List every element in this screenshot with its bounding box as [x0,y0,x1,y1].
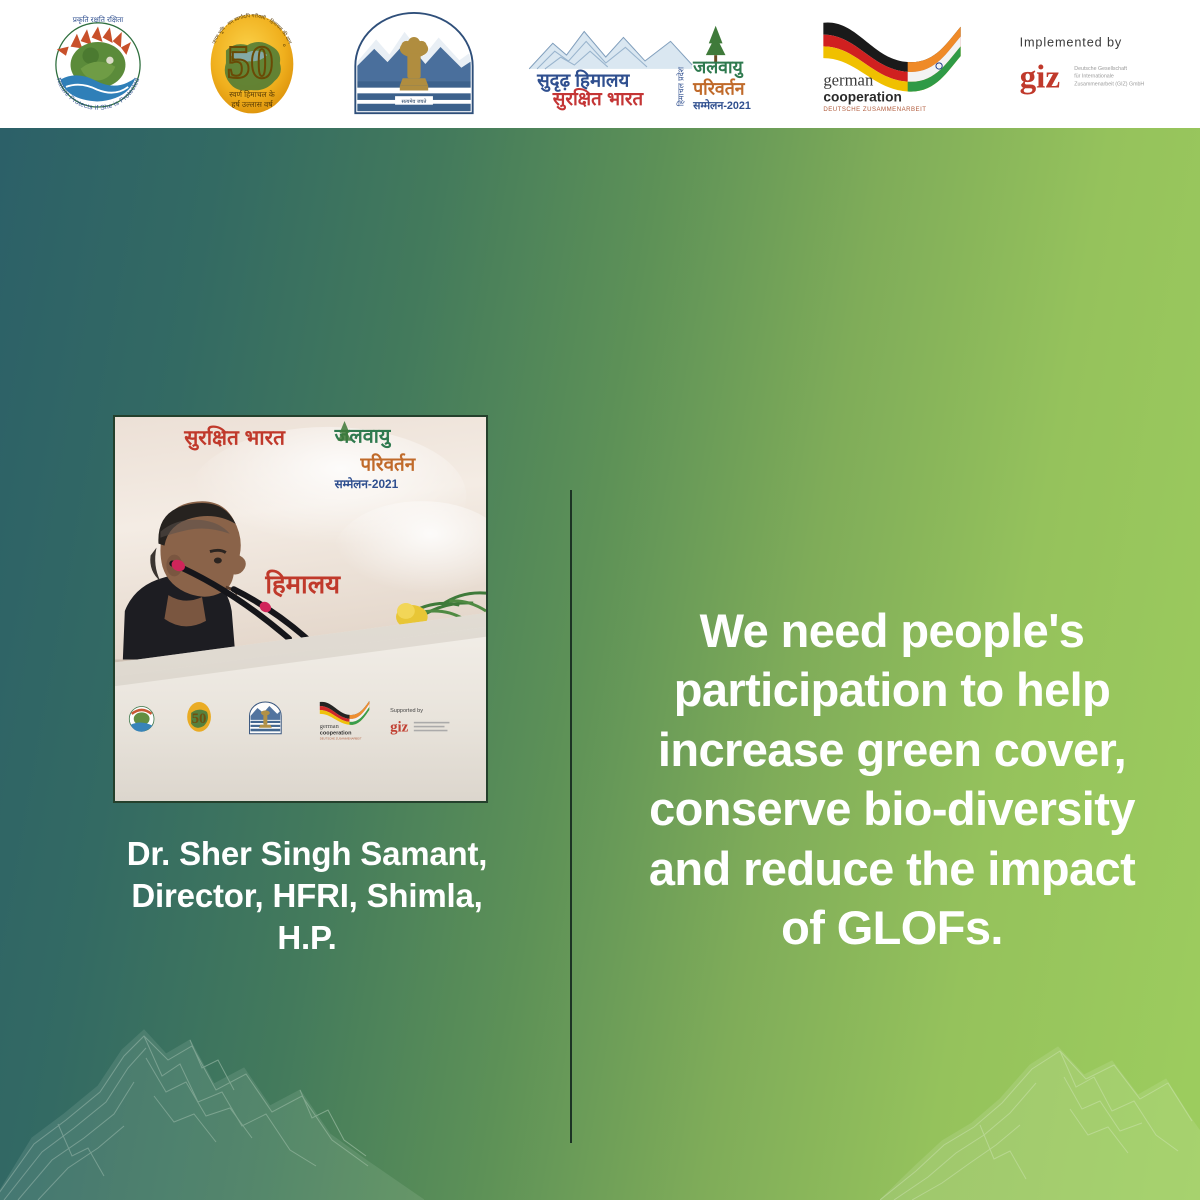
jubilee-bottom-line2: हर्ष उल्लास वर्ष [232,100,274,109]
photo-banner-line4: सम्मेलन-2021 [334,477,399,491]
german-cooperation-line3: DEUTSCHE ZUSAMMENARBEIT [823,106,926,113]
mountain-illustration-left [0,1010,424,1200]
conference-logo: सुदृढ़ हिमालय सुरक्षित भारत हिमाचल प्रदे… [521,10,771,118]
jubilee-degree: ° [283,43,287,53]
photo-banner-line5: हिमालय [264,569,341,599]
german-cooperation-line2: cooperation [823,89,902,104]
vertical-divider [570,490,572,1143]
giz-implemented-by: Implemented by [1020,35,1123,49]
speaker-photo: सुरक्षित भारत जलवायु परिवर्तन सम्मेलन-20… [113,415,488,803]
svg-text:50: 50 [192,711,207,727]
jubilee-numeral: 50 [227,36,274,88]
jubilee-bottom-line1: स्वर्ण हिमाचल के [230,90,276,99]
moefcc-logo: प्रकृति रक्षति रक्षिता Nature Protects i… [38,10,158,118]
quote-text: We need people's participation to help i… [604,601,1180,958]
svg-text:german: german [320,723,340,730]
photo-banner-line1: सुरक्षित भारत [183,426,286,451]
conference-right2: परिवर्तन [692,77,746,98]
mountain-illustration-right [880,1025,1200,1200]
conference-right1: जलवायु [692,57,744,79]
german-cooperation-logo: german cooperation DEUTSCHE ZUSAMMENARBE… [812,10,972,118]
german-cooperation-line1: german [823,71,874,90]
svg-text:giz: giz [390,720,409,736]
giz-subtext: Deutsche Gesellschaft für Internationale… [1074,66,1144,88]
sponsor-logo-band: प्रकृति रक्षति रक्षिता Nature Protects i… [0,0,1200,128]
poster-body: सुरक्षित भारत जलवायु परिवर्तन सम्मेलन-20… [0,128,1200,1200]
photo-banner-line3: परिवर्तन [359,452,416,474]
svg-text:Supported by: Supported by [390,708,423,714]
giz-wordmark: giz [1020,58,1061,95]
poster-canvas: प्रकृति रक्षति रक्षिता Nature Protects i… [0,0,1200,1200]
himachal-pradesh-state-emblem: सत्यमेव जयते [347,10,481,118]
svg-text:DEUTSCHE ZUSAMMENARBEIT: DEUTSCHE ZUSAMMENARBEIT [320,737,362,741]
svg-text:Deutsche Gesellschaft: Deutsche Gesellschaft [1074,66,1127,72]
conference-line2: सुरक्षित भारत [552,87,645,111]
giz-logo: Implemented by giz Deutsche Gesellschaft… [1012,10,1162,118]
svg-text:Zusammenarbeit (GIZ) GmbH: Zusammenarbeit (GIZ) GmbH [1074,82,1144,88]
moefcc-top-text: प्रकृति रक्षति रक्षिता [73,15,123,24]
conference-right3: सम्मेलन-2021 [692,99,751,112]
conference-vertical-text: हिमाचल प्रदेश [675,66,685,106]
svg-text:für Internationale: für Internationale [1074,74,1114,80]
hp-golden-jubilee-logo: 50 ° जनम भूमि - मम स्वर्गादपि गरीयसी - ह… [198,10,306,118]
speaker-caption: Dr. Sher Singh Samant, Director, HFRI, S… [60,833,554,959]
state-emblem-motto: सत्यमेव जयते [401,98,426,105]
